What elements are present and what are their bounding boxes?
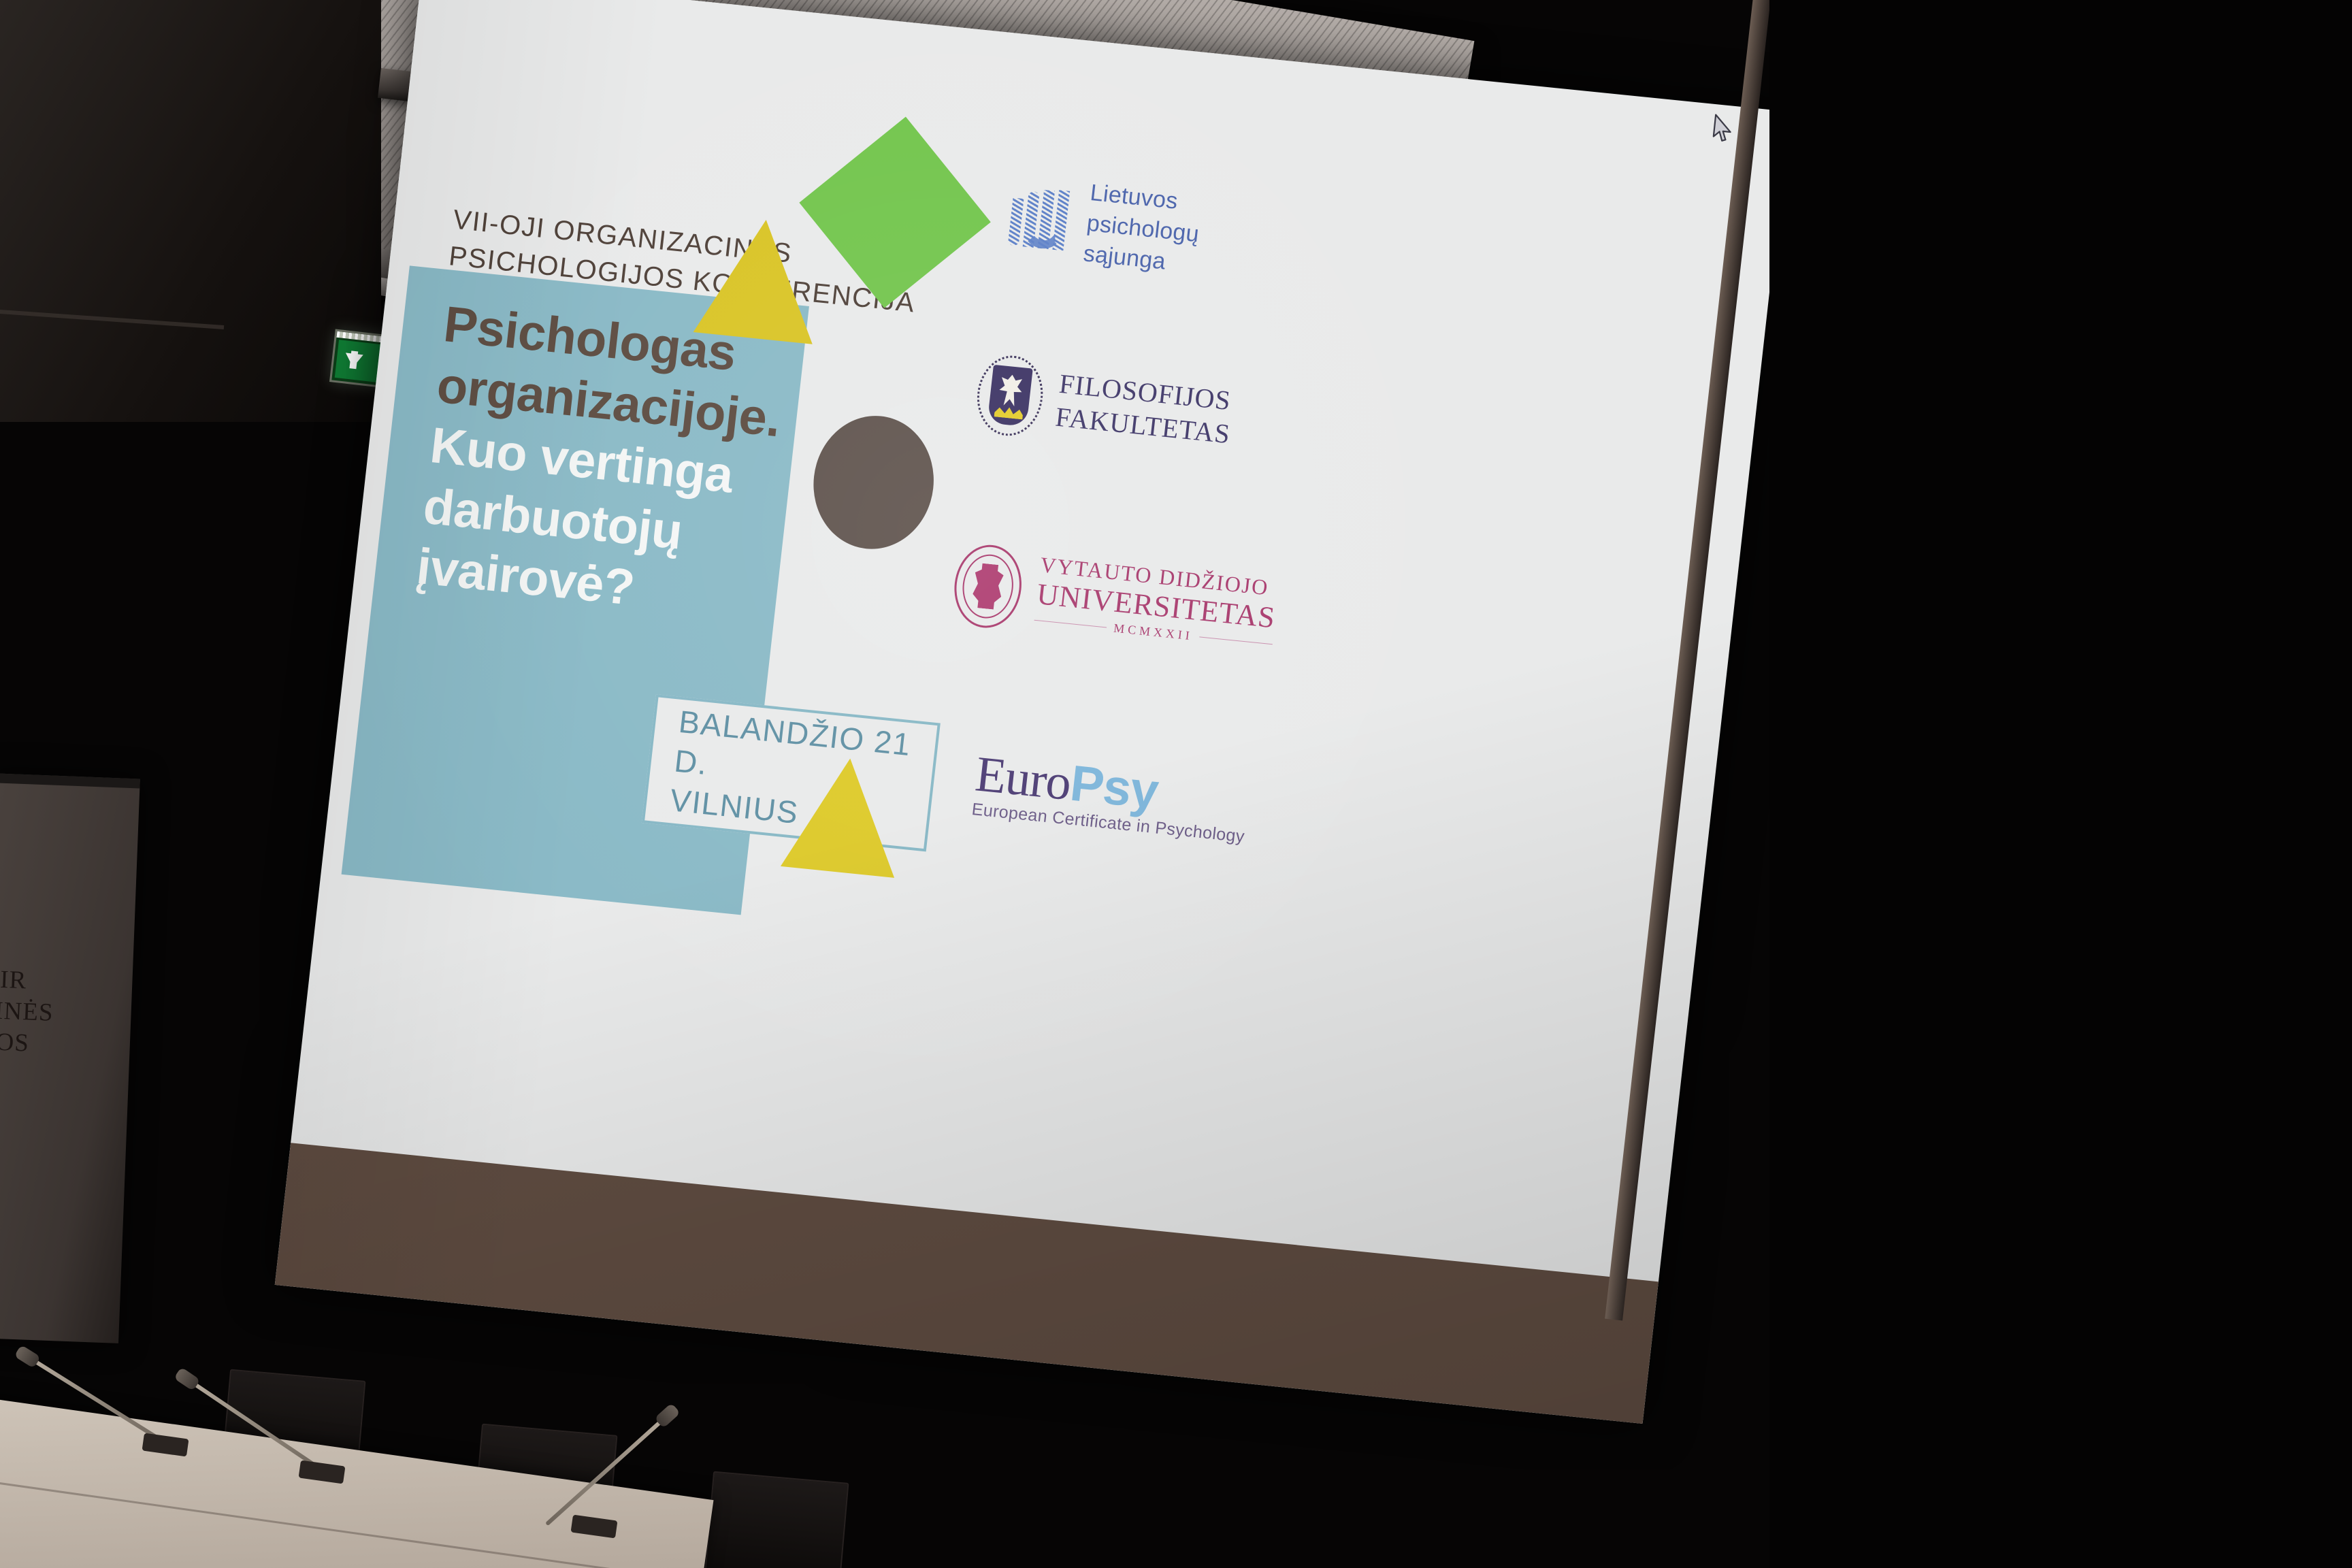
triangle-yellow-top-icon	[693, 214, 826, 344]
lps-mark-icon	[1008, 186, 1077, 252]
left-wall	[0, 0, 381, 422]
slide: psichologai VII-OJI ORGANIZACINĖS PSICHO…	[275, 0, 1790, 1424]
banner-line-2: CINĖS	[0, 994, 134, 1032]
vu-crest-icon	[973, 353, 1047, 439]
down-arrow-icon	[344, 353, 363, 368]
logo-europsy: EuroPsy European Certificate in Psycholo…	[970, 749, 1251, 847]
ff-wordmark: FILOSOFIJOS FAKULTETAS	[1053, 367, 1236, 451]
banner-small-2: ros	[0, 1254, 125, 1292]
projection-screen: psichologai VII-OJI ORGANIZACINĖS PSICHO…	[275, 0, 1790, 1424]
logo-filosofijos-fakultetas: FILOSOFIJOS FAKULTETAS	[973, 353, 1237, 458]
right-dark-wall	[1769, 0, 2352, 1568]
logo-lietuvos-psichologu-sajunga: Lietuvos psichologų sąjunga	[1006, 170, 1204, 280]
banner-line-1: S IR	[0, 964, 135, 1001]
banner-small-1: ūros	[0, 1222, 126, 1260]
banner-line-3: IJOS	[0, 1026, 133, 1063]
slide-title: Psichologas organizacijoje. Kuo vertinga…	[414, 293, 881, 640]
europsy-word-light: Psy	[1068, 755, 1161, 819]
banner-subtext: ūros ros	[0, 1222, 126, 1292]
sponsor-logo-column: Lietuvos psichologų sąjunga FILOSOFIJOS	[1016, 170, 1395, 209]
triangle-yellow-bottom-icon	[781, 753, 907, 878]
panel-chair-3	[703, 1471, 849, 1568]
lps-wordmark: Lietuvos psichologų sąjunga	[1082, 178, 1205, 280]
screenshot-root: psichologai VII-OJI ORGANIZACINĖS PSICHO…	[0, 0, 2352, 1568]
logo-vytauto-didziojo-universitetas: VYTAUTO DIDŽIOJO UNIVERSITETAS MCMXXII	[950, 542, 1280, 657]
banner-headline: S IR CINĖS IJOS	[0, 964, 135, 1063]
wall-seam	[0, 310, 224, 329]
vdu-crest-icon	[950, 542, 1026, 631]
vdu-wordmark: VYTAUTO DIDŽIOJO UNIVERSITETAS MCMXXII	[1033, 553, 1280, 654]
rollup-banner: S IR CINĖS IJOS ūros ros	[0, 773, 140, 1343]
